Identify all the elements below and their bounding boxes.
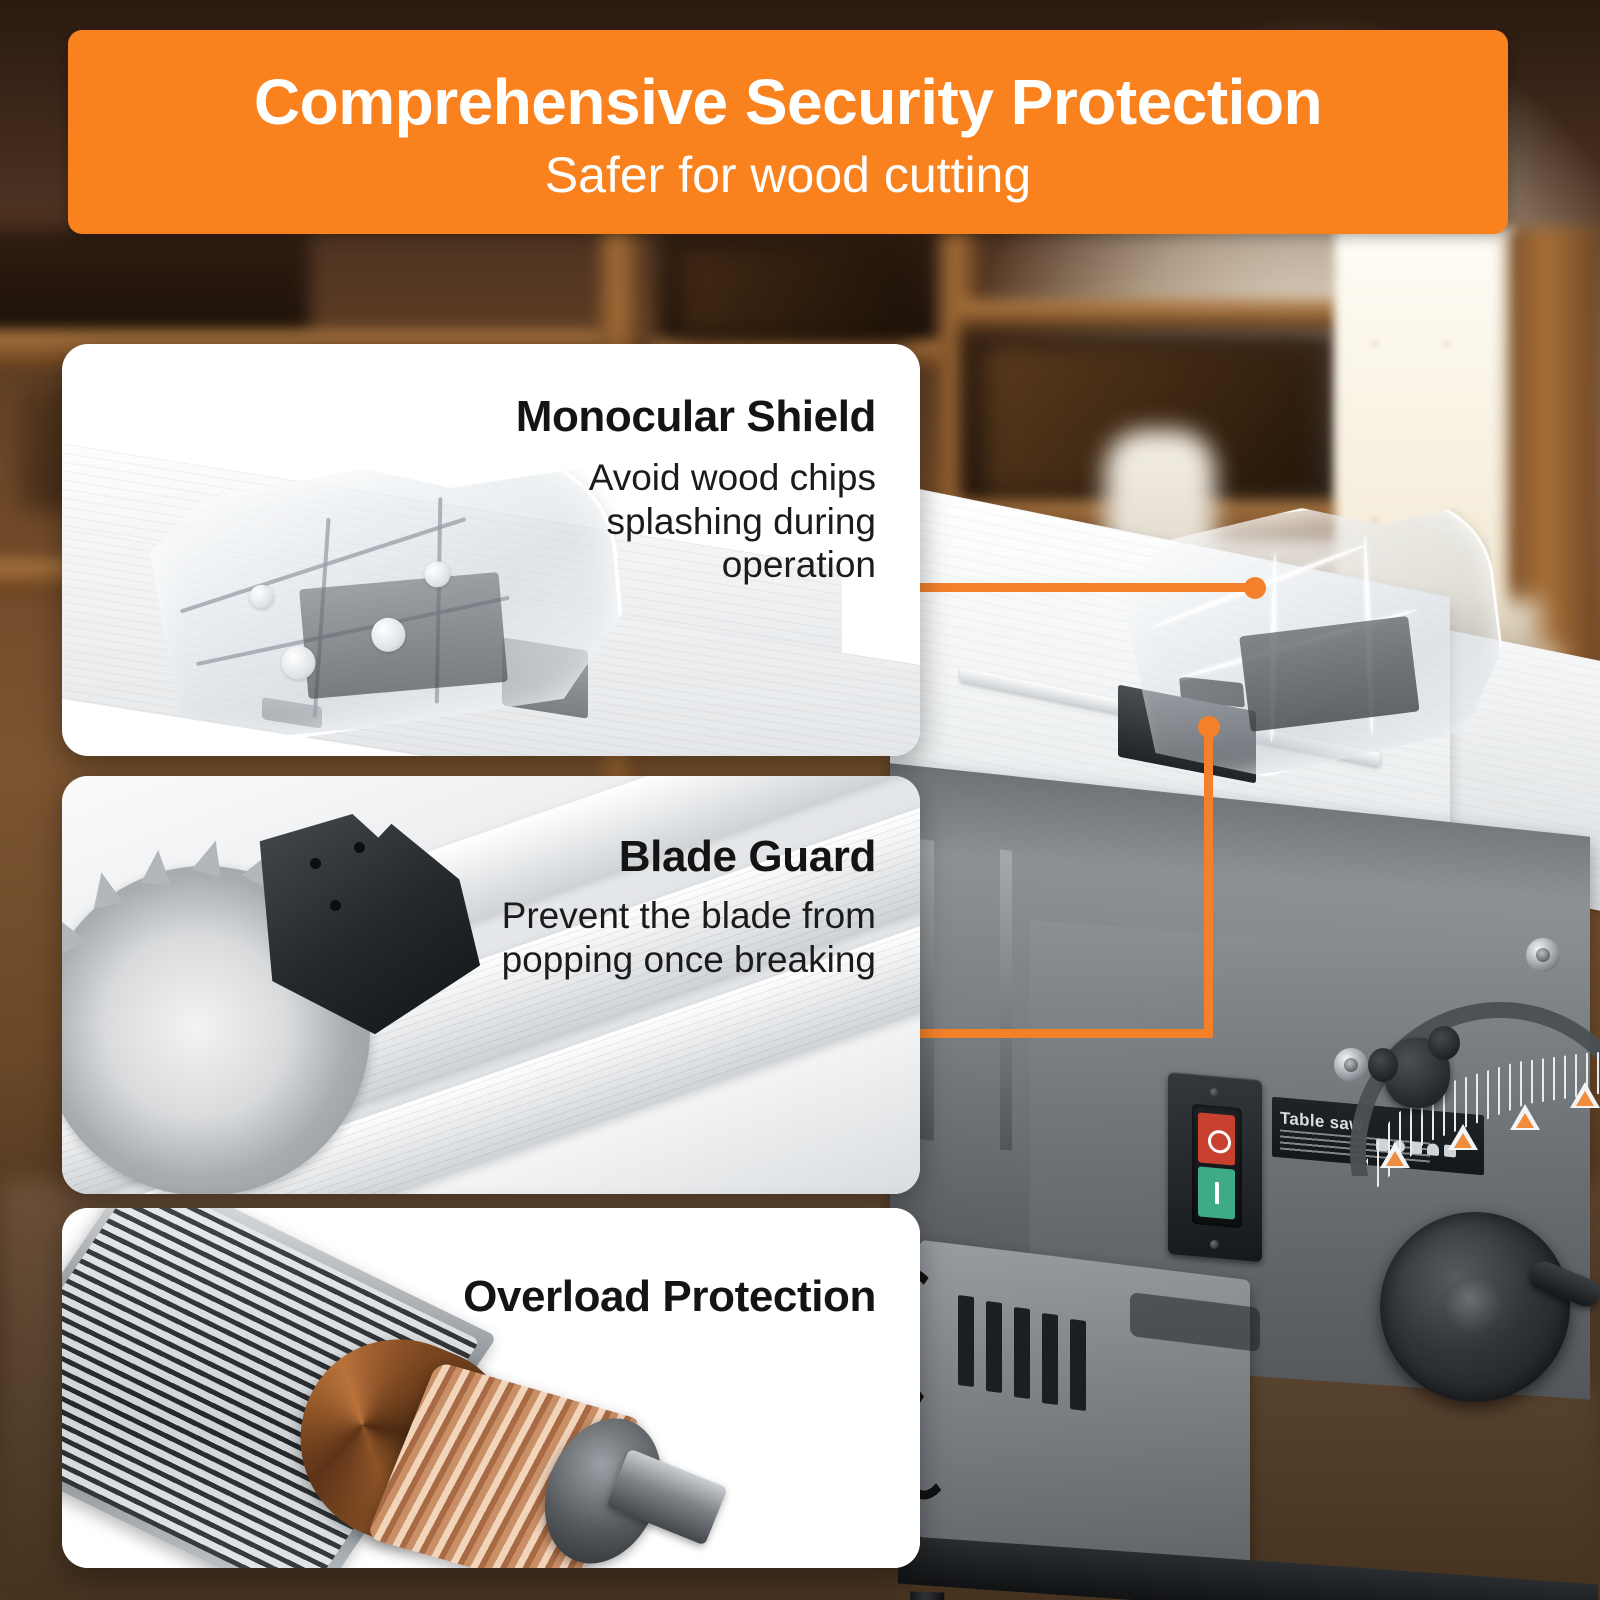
saw-cabinet-rib [920,839,934,1140]
header-banner: Comprehensive Security Protection Safer … [68,30,1508,234]
card2-title: Blade Guard [619,832,876,882]
callout-line-blade-guard-horizontal [905,1029,1213,1038]
shield-interior-shadow [1239,616,1419,732]
card2-subtitle: Prevent the blade from popping once brea… [436,894,876,981]
card2-guard-hole [310,858,321,869]
banner-subtitle: Safer for wood cutting [68,150,1508,200]
feature-card-blade-guard[interactable]: Blade Guard Prevent the blade from poppi… [62,776,920,1194]
card2-blade-tooth [141,849,173,885]
background-dark-shelf-recess [0,228,310,338]
cabinet-screw [1334,1048,1368,1082]
warning-triangle-icon [1380,1142,1410,1168]
motor-vent-slot [1014,1307,1030,1399]
switch-plate-screw [1210,1240,1219,1249]
table-saw-product-photo: Table saw [880,240,1600,1600]
callout-dot-blade-guard [1198,716,1220,738]
motor-vent-slot [1042,1313,1058,1405]
warning-triangle-icon [1570,1082,1600,1108]
callout-line-monocular-shield [905,583,1257,592]
monocular-shield-on-product [1105,486,1514,792]
warning-triangle-icon [1510,1104,1540,1130]
power-off-button[interactable] [1198,1112,1235,1165]
bevel-lock-knob-wing[interactable] [1368,1048,1398,1082]
motor-vent-slot [958,1295,974,1387]
blade-height-handwheel[interactable] [1380,1212,1570,1402]
callout-dot-monocular-shield [1244,577,1266,599]
stand-leg [902,1591,945,1600]
card1-subtitle: Avoid wood chips splashing during operat… [456,456,876,587]
motor-vent-slot [1070,1319,1086,1411]
power-on-button[interactable] [1198,1166,1235,1219]
feature-card-monocular-shield[interactable]: Monocular Shield Avoid wood chips splash… [62,344,920,756]
banner-title: Comprehensive Security Protection [68,70,1508,134]
warning-triangle-icon [1448,1124,1478,1150]
background-tool-silhouette [680,250,910,340]
bevel-lock-knob-wing[interactable] [1428,1026,1460,1060]
card2-guard-hole [330,900,341,911]
card1-title: Monocular Shield [516,392,876,442]
feature-card-overload-protection[interactable]: Overload Protection [62,1208,920,1568]
card2-guard-hole [354,842,365,853]
card3-title: Overload Protection [463,1272,876,1322]
cabinet-screw [1526,938,1560,972]
switch-plate-screw [1210,1088,1219,1097]
saw-cabinet-rib [1000,849,1012,1150]
callout-line-blade-guard-vertical [1204,726,1213,1029]
motor-vent-slot [986,1301,1002,1393]
